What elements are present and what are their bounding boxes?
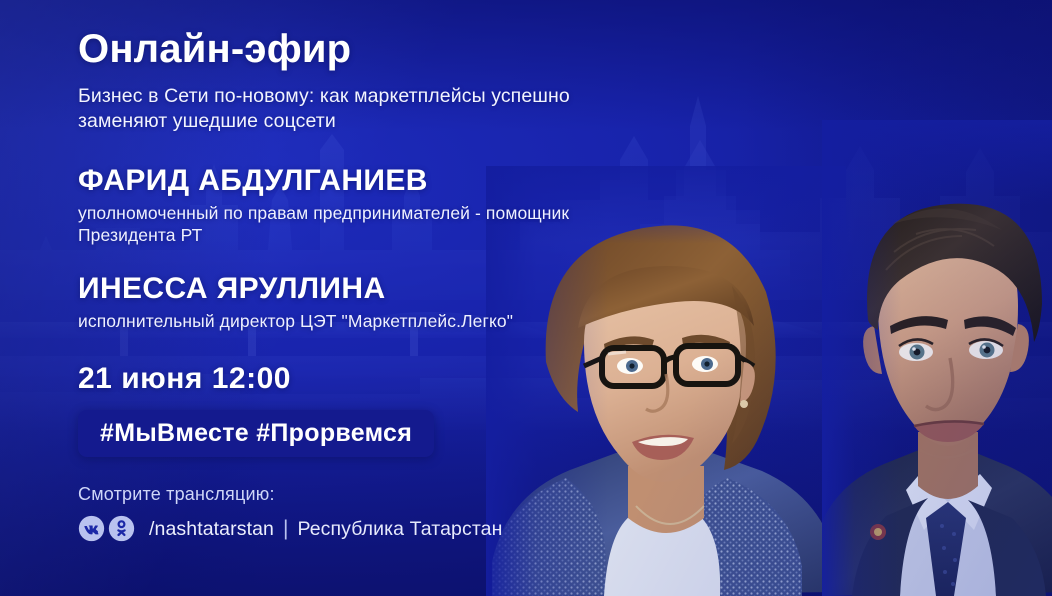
social-separator: |	[283, 517, 288, 541]
speaker-block-1: ФАРИД АБДУЛГАНИЕВ уполномоченный по прав…	[78, 164, 638, 246]
social-handle[interactable]: /nashtatarstan	[149, 517, 274, 541]
social-icon-group	[78, 515, 135, 542]
vk-icon[interactable]	[78, 515, 105, 542]
speaker-role: исполнительный директор ЦЭТ "Маркетплейс…	[78, 310, 638, 332]
social-links-row: /nashtatarstan | Республика Татарстан	[78, 515, 638, 542]
broadcast-announcement-poster: Онлайн-эфир Бизнес в Сети по-новому: как…	[0, 0, 1052, 596]
page-title: Онлайн-эфир	[78, 26, 638, 72]
speaker-role: уполномоченный по правам предпринимателе…	[78, 202, 638, 246]
social-organization: Республика Татарстан	[297, 517, 502, 541]
speaker-name: ФАРИД АБДУЛГАНИЕВ	[78, 164, 638, 198]
poster-content: Онлайн-эфир Бизнес в Сети по-новому: как…	[78, 26, 638, 542]
event-datetime: 21 июня 12:00	[78, 362, 638, 396]
photo-farid-abdulganiev	[822, 120, 1052, 596]
watch-broadcast-label: Смотрите трансляцию:	[78, 483, 638, 505]
hashtag-badge: #МыВместе #Прорвемся	[78, 410, 434, 457]
odnoklassniki-icon[interactable]	[108, 515, 135, 542]
poster-subtitle: Бизнес в Сети по-новому: как маркетплейс…	[78, 84, 598, 134]
speaker-name: ИНЕССА ЯРУЛЛИНА	[78, 272, 638, 306]
speaker-block-2: ИНЕССА ЯРУЛЛИНА исполнительный директор …	[78, 272, 638, 332]
